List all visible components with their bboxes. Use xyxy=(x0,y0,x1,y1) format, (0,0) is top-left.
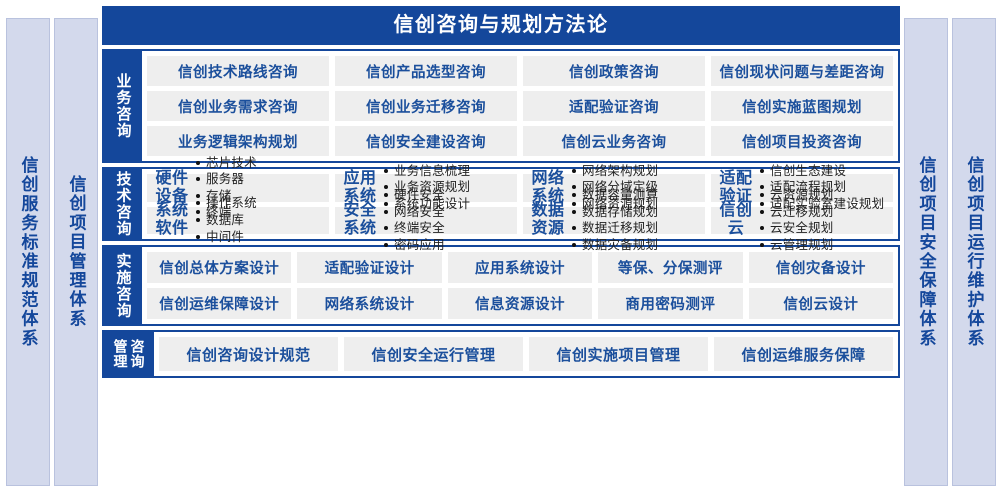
card-items: 云资源规划 云迁移规划 云安全规划 云管理规划 xyxy=(759,187,887,254)
pillar-project-operation-system: 信创项目运行维护体系 xyxy=(952,18,996,486)
card-item: 数据库 xyxy=(195,212,323,229)
band-technical-consulting: 技术咨询 硬件 设备 芯片技术 服务器 存储 终端 应用 系统 xyxy=(102,167,900,241)
card-item: 云资源规划 xyxy=(759,187,887,204)
chip-item[interactable]: 信创安全运行管理 xyxy=(344,337,523,371)
card-item: 服务器 xyxy=(195,171,323,188)
card-title: 网络 系统 xyxy=(531,170,565,206)
chip-row: 信创技术路线咨询 信创产品选型咨询 信创政策咨询 信创现状问题与差距咨询 xyxy=(147,56,893,86)
pillar-label: 信创项目运行维护体系 xyxy=(966,156,983,348)
band-label-columns: 咨询 管理 xyxy=(114,339,145,369)
pillar-label: 信创项目管理体系 xyxy=(68,175,85,329)
card-xinchuang-cloud[interactable]: 信创 云 云资源规划 云迁移规划 云安全规划 云管理规划 xyxy=(711,207,893,235)
chip-item[interactable]: 信创云业务咨询 xyxy=(523,126,705,156)
chip-item[interactable]: 信创实施蓝图规划 xyxy=(711,91,893,121)
chip-item[interactable]: 业务逻辑架构规划 xyxy=(147,126,329,156)
card-title: 应用 系统 xyxy=(343,170,377,206)
chip-item[interactable]: 信创政策咨询 xyxy=(523,56,705,86)
chip-item[interactable]: 信创运维保障设计 xyxy=(147,288,291,319)
band-business-consulting: 业务咨询 信创技术路线咨询 信创产品选型咨询 信创政策咨询 信创现状问题与差距咨… xyxy=(102,49,900,163)
band-label-text-col1: 咨询 xyxy=(131,339,145,369)
chip-item[interactable]: 商用密码测评 xyxy=(598,288,742,319)
card-title: 数据 资源 xyxy=(531,202,565,238)
chip-item[interactable]: 信创现状问题与差距咨询 xyxy=(711,56,893,86)
band-implementation-consulting: 实施咨询 信创总体方案设计 适配验证设计 应用系统设计 等保、分保测评 信创灾备… xyxy=(102,245,900,326)
chip-row: 信创运维保障设计 网络系统设计 信息资源设计 商用密码测评 信创云设计 xyxy=(147,288,893,319)
pillar-service-standard-system: 信创服务标准规范体系 xyxy=(6,18,50,486)
chip-item[interactable]: 信创安全建设咨询 xyxy=(335,126,517,156)
chip-item[interactable]: 信创咨询设计规范 xyxy=(159,337,338,371)
card-item: 芯片技术 xyxy=(195,155,323,172)
card-item: 终端安全 xyxy=(383,220,511,237)
card-item: 密码应用 xyxy=(383,237,511,254)
methodology-diagram: 信创服务标准规范体系 信创项目管理体系 信创咨询与规划方法论 业务咨询 信创技术… xyxy=(0,0,1000,496)
card-item: 云迁移规划 xyxy=(759,204,887,221)
card-item: 数据灾备规划 xyxy=(571,237,699,254)
card-item: 网络架构规划 xyxy=(571,163,699,180)
card-item: 业务信息梳理 xyxy=(383,163,511,180)
card-system-software[interactable]: 系统 软件 操作系统 数据库 中间件 xyxy=(147,207,329,235)
card-data-resources[interactable]: 数据 资源 数据容量测算 数据存储规划 数据迁移规划 数据灾备规划 xyxy=(523,207,705,235)
card-title: 硬件 设备 xyxy=(155,170,189,206)
card-row: 系统 软件 操作系统 数据库 中间件 安全 系统 硬件安全 网络安全 终端安全 xyxy=(147,207,893,235)
card-items: 操作系统 数据库 中间件 xyxy=(195,195,323,245)
center-stack: 信创咨询与规划方法论 业务咨询 信创技术路线咨询 信创产品选型咨询 信创政策咨询… xyxy=(102,6,900,490)
card-title: 信创 云 xyxy=(719,202,753,238)
card-item: 数据存储规划 xyxy=(571,204,699,221)
card-items: 硬件安全 网络安全 终端安全 密码应用 xyxy=(383,187,511,254)
chip-item[interactable]: 等保、分保测评 xyxy=(598,252,742,283)
chip-item[interactable]: 信创运维服务保障 xyxy=(714,337,893,371)
chip-row: 信创总体方案设计 适配验证设计 应用系统设计 等保、分保测评 信创灾备设计 xyxy=(147,252,893,283)
chip-item[interactable]: 信创云设计 xyxy=(749,288,893,319)
pillar-label: 信创项目安全保障体系 xyxy=(918,156,935,348)
band-label-text-col2: 管理 xyxy=(114,339,128,369)
chip-item[interactable]: 信息资源设计 xyxy=(448,288,592,319)
card-item: 数据容量测算 xyxy=(571,187,699,204)
chip-item[interactable]: 网络系统设计 xyxy=(297,288,441,319)
card-security-system[interactable]: 安全 系统 硬件安全 网络安全 终端安全 密码应用 xyxy=(335,207,517,235)
chip-item[interactable]: 信创项目投资咨询 xyxy=(711,126,893,156)
band-label-management: 咨询 管理 xyxy=(104,332,154,376)
pillar-project-management-system: 信创项目管理体系 xyxy=(54,18,98,486)
card-item: 网络安全 xyxy=(383,204,511,221)
chip-item[interactable]: 信创产品选型咨询 xyxy=(335,56,517,86)
chip-item[interactable]: 信创总体方案设计 xyxy=(147,252,291,283)
chip-item[interactable]: 适配验证设计 xyxy=(297,252,441,283)
band-label-technical: 技术咨询 xyxy=(104,169,142,239)
chip-item[interactable]: 信创业务迁移咨询 xyxy=(335,91,517,121)
pillar-project-security-system: 信创项目安全保障体系 xyxy=(904,18,948,486)
band-label-business: 业务咨询 xyxy=(104,51,142,161)
chip-item[interactable]: 信创技术路线咨询 xyxy=(147,56,329,86)
band-body-technical: 硬件 设备 芯片技术 服务器 存储 终端 应用 系统 业务信息梳理 业务资源规划 xyxy=(142,169,898,239)
card-title: 适配 验证 xyxy=(719,170,753,206)
chip-item[interactable]: 信创灾备设计 xyxy=(749,252,893,283)
card-item: 中间件 xyxy=(195,229,323,246)
band-consulting-management: 咨询 管理 信创咨询设计规范 信创安全运行管理 信创实施项目管理 信创运维服务保… xyxy=(102,330,900,378)
band-label-text: 业务咨询 xyxy=(116,73,131,139)
card-items: 数据容量测算 数据存储规划 数据迁移规划 数据灾备规划 xyxy=(571,187,699,254)
chip-item[interactable]: 应用系统设计 xyxy=(448,252,592,283)
card-item: 云安全规划 xyxy=(759,220,887,237)
card-title: 安全 系统 xyxy=(343,202,377,238)
card-item: 云管理规划 xyxy=(759,237,887,254)
chip-row: 业务逻辑架构规划 信创安全建设咨询 信创云业务咨询 信创项目投资咨询 xyxy=(147,126,893,156)
band-body-implementation: 信创总体方案设计 适配验证设计 应用系统设计 等保、分保测评 信创灾备设计 信创… xyxy=(142,247,898,324)
card-title: 系统 软件 xyxy=(155,202,189,238)
card-item: 数据迁移规划 xyxy=(571,220,699,237)
chip-item[interactable]: 信创实施项目管理 xyxy=(529,337,708,371)
chip-item[interactable]: 适配验证咨询 xyxy=(523,91,705,121)
pillar-label: 信创服务标准规范体系 xyxy=(20,156,37,348)
page-title: 信创咨询与规划方法论 xyxy=(102,6,900,45)
card-item: 操作系统 xyxy=(195,195,323,212)
band-label-implementation: 实施咨询 xyxy=(104,247,142,324)
band-body-business: 信创技术路线咨询 信创产品选型咨询 信创政策咨询 信创现状问题与差距咨询 信创业… xyxy=(142,51,898,161)
band-body-management: 信创咨询设计规范 信创安全运行管理 信创实施项目管理 信创运维服务保障 xyxy=(154,332,898,376)
band-label-text: 实施咨询 xyxy=(116,253,131,319)
chip-row: 信创业务需求咨询 信创业务迁移咨询 适配验证咨询 信创实施蓝图规划 xyxy=(147,91,893,121)
card-item: 信创生态建设 xyxy=(759,163,887,180)
band-label-text: 技术咨询 xyxy=(116,171,131,237)
chip-row: 信创咨询设计规范 信创安全运行管理 信创实施项目管理 信创运维服务保障 xyxy=(159,337,893,371)
chip-item[interactable]: 信创业务需求咨询 xyxy=(147,91,329,121)
card-item: 硬件安全 xyxy=(383,187,511,204)
